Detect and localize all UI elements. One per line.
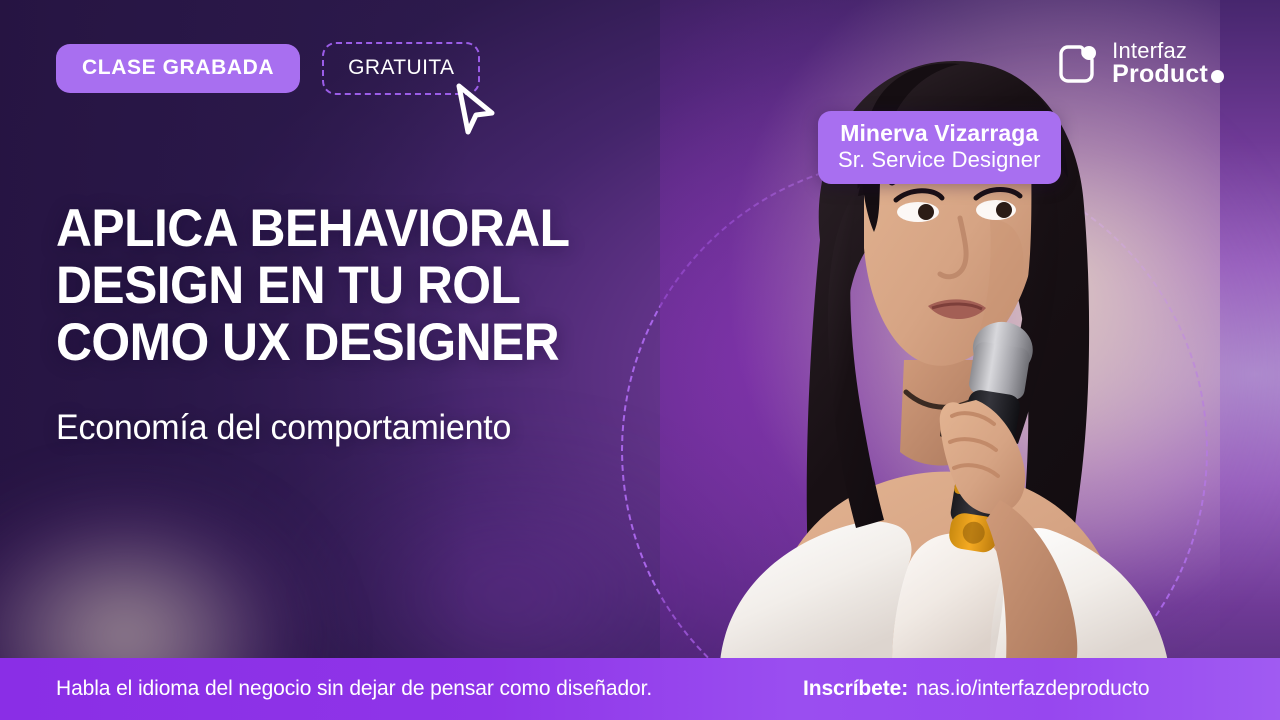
rounded-square-dot-logo-icon bbox=[1056, 42, 1100, 86]
promo-banner: Minerva Vizarraga Sr. Service Designer C… bbox=[0, 0, 1280, 720]
bottom-bar-cta-url[interactable]: nas.io/interfazdeproducto bbox=[916, 677, 1149, 701]
brand-name-line2-text: Product bbox=[1112, 62, 1208, 88]
page-title-line-2: DESIGN EN TU ROL bbox=[56, 257, 570, 314]
brand-name-line2: Product bbox=[1112, 62, 1224, 88]
brand-name-line1: Interfaz bbox=[1112, 40, 1224, 62]
bottom-cta-bar: Habla el idioma del negocio sin dejar de… bbox=[0, 658, 1280, 720]
badge-free[interactable]: GRATUITA bbox=[322, 42, 480, 95]
speaker-name-badge: Minerva Vizarraga Sr. Service Designer bbox=[818, 111, 1061, 184]
brand-logo: Interfaz Product bbox=[1056, 40, 1224, 88]
page-title-line-3: COMO UX DESIGNER bbox=[56, 314, 570, 371]
badge-recorded-class[interactable]: CLASE GRABADA bbox=[56, 44, 300, 93]
page-subtitle: Economía del comportamiento bbox=[56, 408, 511, 448]
page-title-line-1: APLICA BEHAVIORAL bbox=[56, 200, 570, 257]
speaker-portrait-illustration bbox=[660, 0, 1220, 662]
brand-logo-text: Interfaz Product bbox=[1112, 40, 1224, 88]
bottom-bar-tagline: Habla el idioma del negocio sin dejar de… bbox=[56, 677, 652, 701]
page-title: APLICA BEHAVIORAL DESIGN EN TU ROL COMO … bbox=[56, 200, 570, 372]
bottom-bar-cta[interactable]: Inscríbete: nas.io/interfazdeproducto bbox=[803, 677, 1149, 701]
speaker-role: Sr. Service Designer bbox=[838, 147, 1041, 173]
badge-row: CLASE GRABADA GRATUITA bbox=[56, 42, 480, 95]
logo-dot-icon bbox=[1211, 70, 1224, 83]
speaker-name: Minerva Vizarraga bbox=[838, 120, 1041, 147]
bottom-bar-cta-label: Inscríbete: bbox=[803, 677, 908, 701]
speaker-photo bbox=[660, 0, 1220, 662]
